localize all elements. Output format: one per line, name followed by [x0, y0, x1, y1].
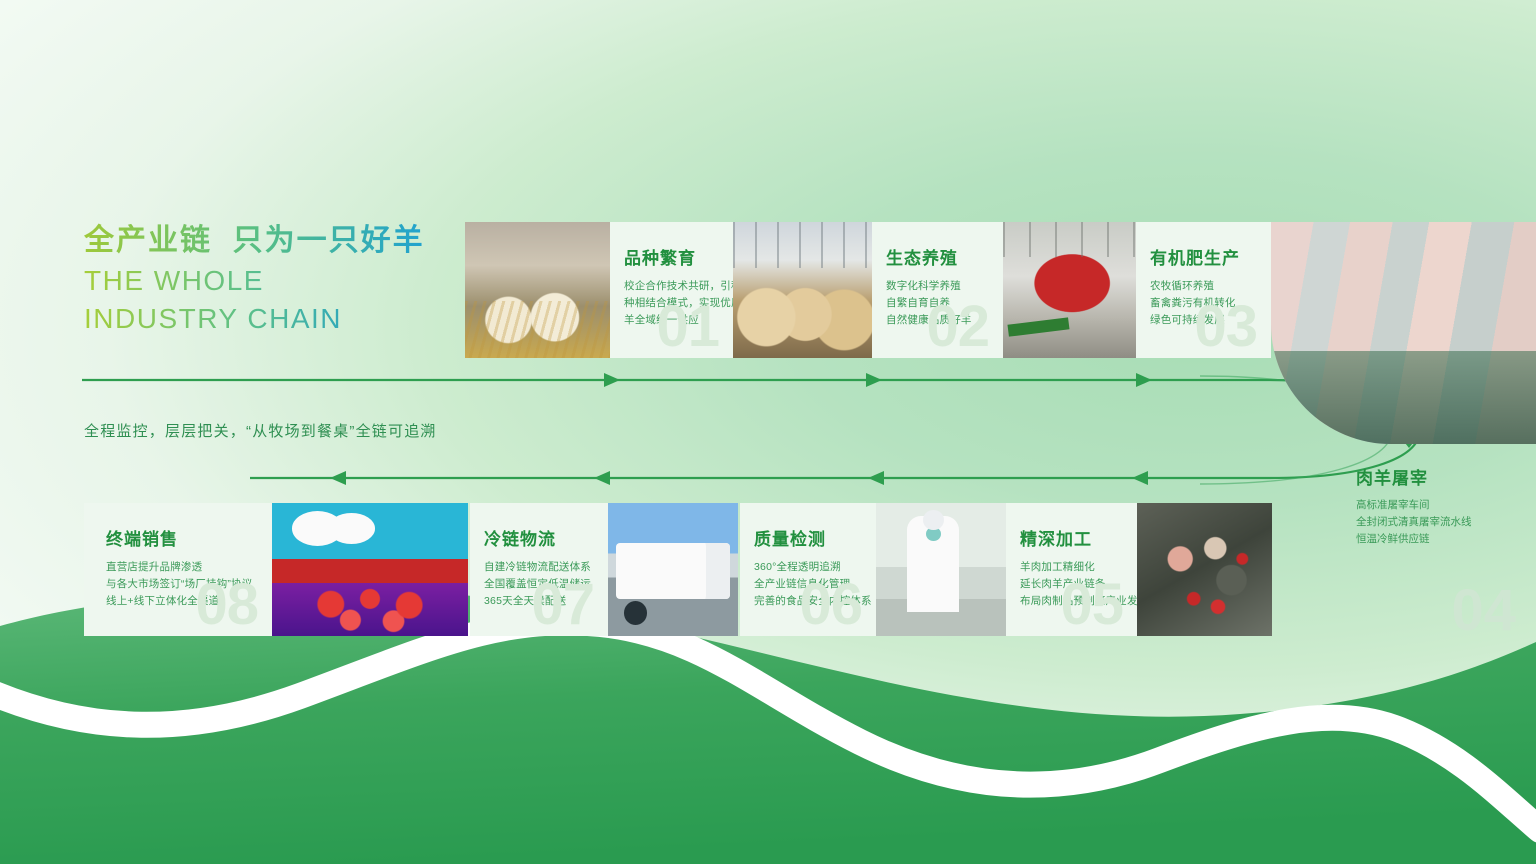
- stage-title-01: 品种繁育: [624, 244, 733, 269]
- stage-number-03: 03: [1194, 298, 1257, 356]
- stage-card-05[interactable]: 精深加工 羊肉加工精细化 延长肉羊产业链条 布局肉制品预制菜产业发展 05: [1006, 503, 1272, 636]
- stage-text-07: 冷链物流 自建冷链物流配送体系 全国覆盖恒定低温储运 365天全天候配送 07: [470, 503, 608, 636]
- stage-number-08: 08: [195, 576, 258, 634]
- stage-card-08[interactable]: 终端销售 直营店提升品牌渗透 与各大市场签订“场厂挂钩”协议 线上+线下立体化全…: [84, 503, 468, 636]
- arrow-right-3: [1136, 373, 1152, 387]
- stage-photo-06: [876, 503, 1006, 636]
- arrow-left-2: [868, 471, 884, 485]
- stage-text-05: 精深加工 羊肉加工精细化 延长肉羊产业链条 布局肉制品预制菜产业发展 05: [1006, 503, 1137, 636]
- stage-photo-04: [1271, 222, 1536, 444]
- stage-number-02: 02: [926, 298, 989, 356]
- stage-number-04: 04: [1451, 582, 1516, 640]
- stage-card-03[interactable]: 有机肥生产 农牧循环养殖 畜禽粪污有机转化 绿色可持续发展 03: [1003, 222, 1271, 358]
- stage-text-02: 生态养殖 数字化科学养殖 自繁自育自养 自然健康品质好羊 02: [872, 222, 1003, 358]
- stage-photo-08: [272, 503, 468, 636]
- arrow-right-2: [866, 373, 882, 387]
- stage-text-06: 质量检测 360°全程透明追溯 全产业链信息化管理 完善的食品安全内控体系 06: [740, 503, 876, 636]
- stage-number-07: 07: [531, 576, 594, 634]
- page-title-cn: 全产业链 只为一只好羊: [84, 222, 444, 260]
- stage-title-07: 冷链物流: [484, 525, 608, 550]
- stage-card-02[interactable]: 生态养殖 数字化科学养殖 自繁自育自养 自然健康品质好羊 02: [733, 222, 1003, 358]
- stage-title-08: 终端销售: [106, 525, 272, 550]
- subtitle-text: 全程监控，层层把关，“从牧场到餐桌”全链可追溯: [84, 420, 437, 441]
- stage-card-04[interactable]: 肉羊屠宰 高标准屠宰车间 全封闭式清真屠宰流水线 恒温冷鲜供应链 04: [1340, 448, 1536, 636]
- stage-desc-04: 高标准屠宰车间 全封闭式清真屠宰流水线 恒温冷鲜供应链: [1356, 497, 1536, 548]
- header-block: 全产业链 只为一只好羊 THE WHOLE INDUSTRY CHAIN: [84, 222, 444, 337]
- stage-title-04: 肉羊屠宰: [1356, 464, 1536, 489]
- stage-text-08: 终端销售 直营店提升品牌渗透 与各大市场签订“场厂挂钩”协议 线上+线下立体化全…: [84, 503, 272, 636]
- stage-card-07[interactable]: 冷链物流 自建冷链物流配送体系 全国覆盖恒定低温储运 365天全天候配送 07: [470, 503, 738, 636]
- arrow-right-1: [604, 373, 620, 387]
- stage-photo-02: [733, 222, 872, 358]
- stage-card-01[interactable]: 品种繁育 校企合作技术共研，引种育 种相结合模式，实现优质羔 羊全域统一供应 0…: [465, 222, 733, 358]
- arrow-left-1: [1132, 471, 1148, 485]
- stage-title-03: 有机肥生产: [1150, 244, 1271, 269]
- stage-number-05: 05: [1060, 576, 1123, 634]
- arrow-left-4: [330, 471, 346, 485]
- stage-photo-03: [1003, 222, 1136, 358]
- stage-text-01: 品种繁育 校企合作技术共研，引种育 种相结合模式，实现优质羔 羊全域统一供应 0…: [610, 222, 733, 358]
- stage-photo-01: [465, 222, 610, 358]
- stage-title-02: 生态养殖: [886, 244, 1003, 269]
- page-title-en-line1: THE WHOLE: [84, 263, 444, 299]
- stage-card-06[interactable]: 质量检测 360°全程透明追溯 全产业链信息化管理 完善的食品安全内控体系 06: [740, 503, 1006, 636]
- stage-number-01: 01: [656, 298, 719, 356]
- stage-photo-05: [1137, 503, 1272, 636]
- stage-title-06: 质量检测: [754, 525, 876, 550]
- arrow-left-3: [594, 471, 610, 485]
- stage-number-06: 06: [799, 576, 862, 634]
- stage-title-05: 精深加工: [1020, 525, 1137, 550]
- stage-text-03: 有机肥生产 农牧循环养殖 畜禽粪污有机转化 绿色可持续发展 03: [1136, 222, 1271, 358]
- page-title-en-line2: INDUSTRY CHAIN: [84, 301, 444, 337]
- stage-photo-07: [608, 503, 738, 636]
